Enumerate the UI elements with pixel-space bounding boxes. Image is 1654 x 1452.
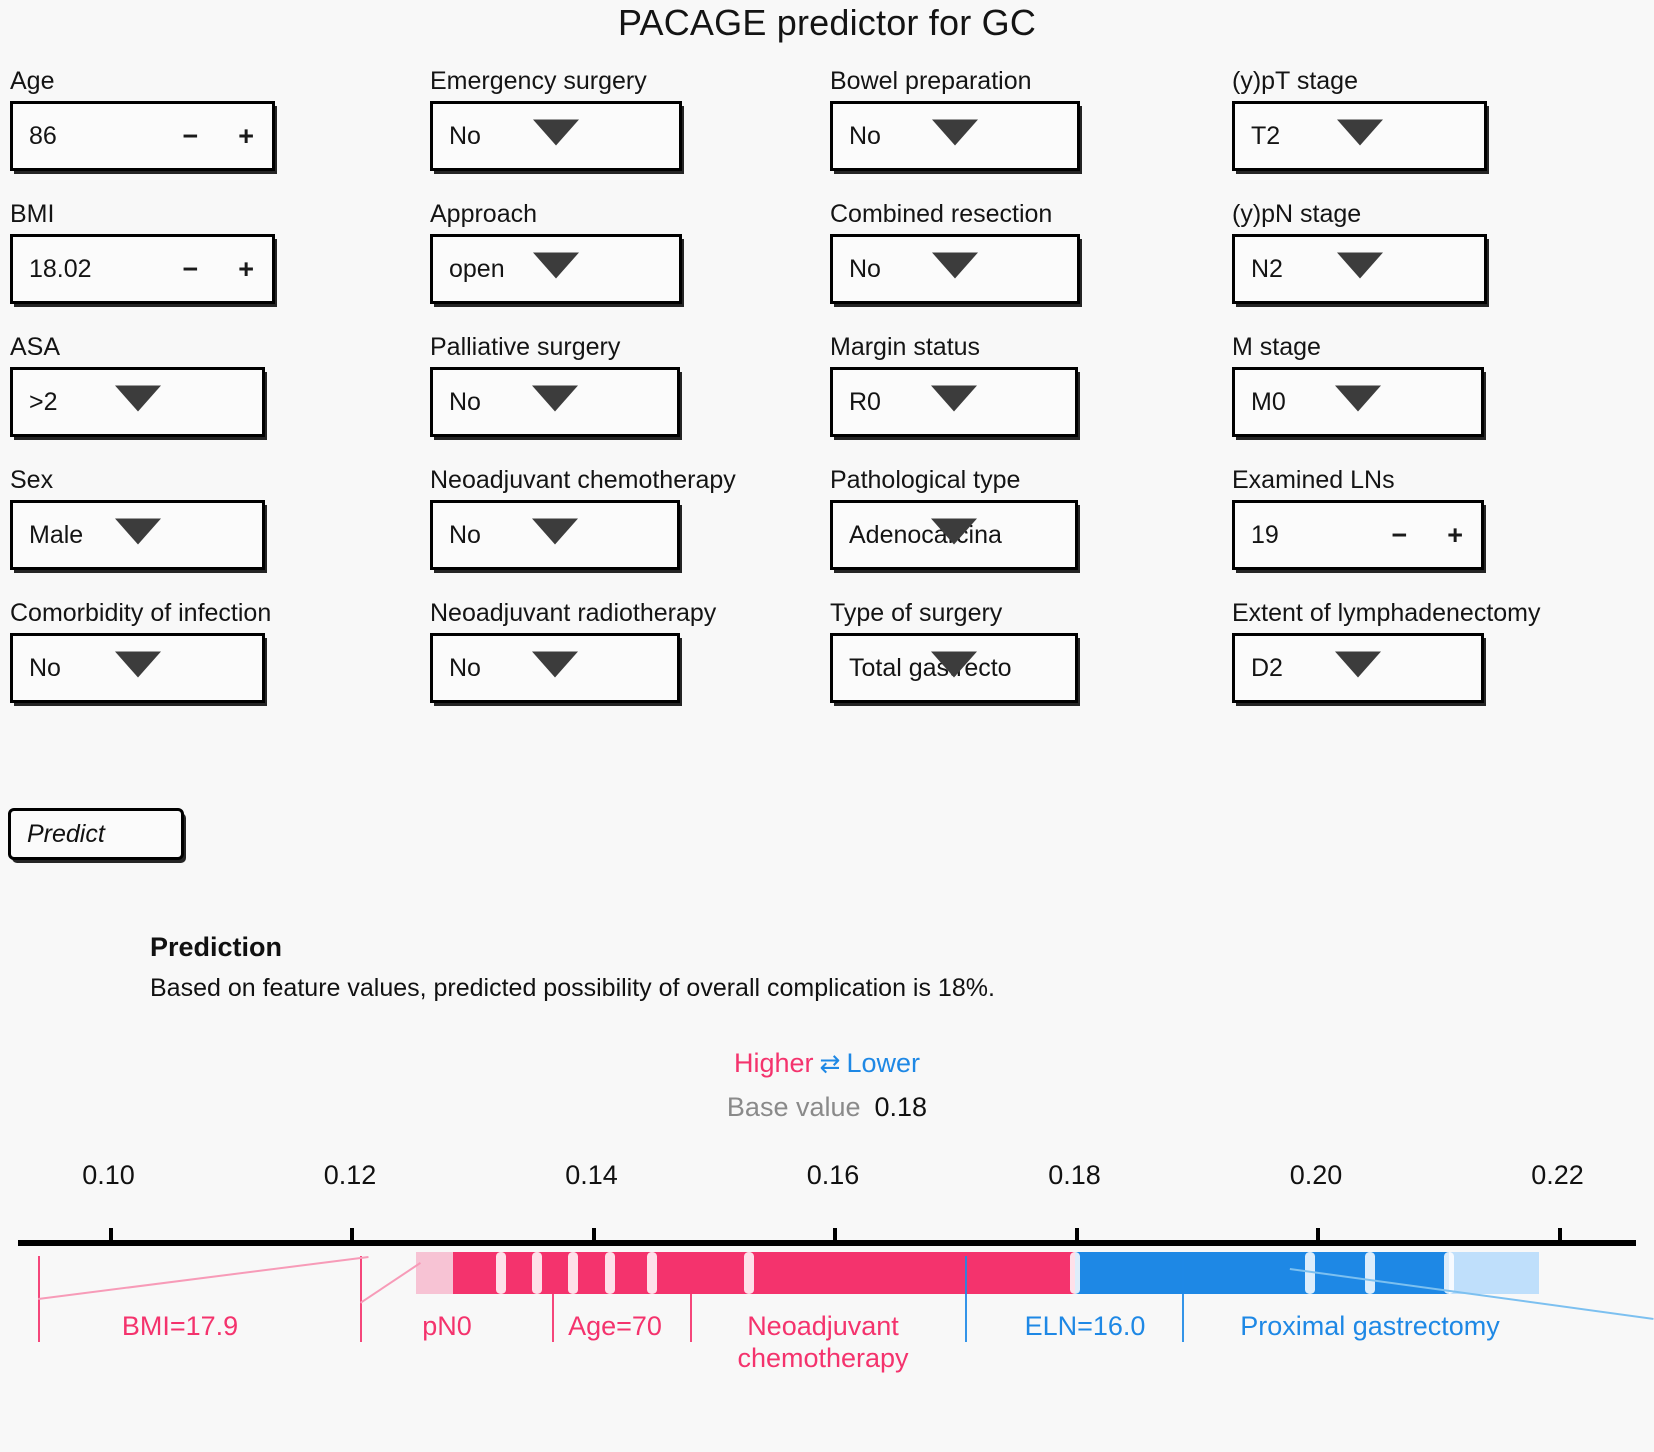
force-feature-label: Proximal gastrectomy <box>1240 1310 1500 1342</box>
pathological-type-select[interactable]: Adenocarcina <box>830 500 1078 570</box>
emergency-surgery-value: No <box>433 122 481 151</box>
form-column-1: BMI 18.02 − + <box>10 199 430 304</box>
axis-tick <box>109 1228 113 1240</box>
field-label: Sex <box>10 465 430 495</box>
asa-value: >2 <box>13 388 58 417</box>
margin-status-value: R0 <box>833 388 881 417</box>
field-label: Emergency surgery <box>430 66 830 96</box>
form-column-4: (y)pT stage T2 <box>1232 66 1650 171</box>
plus-icon[interactable]: + <box>238 121 254 152</box>
form-row: Sex Male Neoadjuvant chemotherapy No Pat… <box>10 465 1650 570</box>
form-column-4: (y)pN stage N2 <box>1232 199 1650 304</box>
force-plot-legend: Higher⇄Lower <box>0 1048 1654 1079</box>
palliative-surgery-select[interactable]: No <box>430 367 680 437</box>
force-segment <box>496 1252 506 1294</box>
shap-force-plot: Higher⇄Lower Base value0.18 0.100.120.14… <box>0 1040 1654 1452</box>
field-label: (y)pN stage <box>1232 199 1650 229</box>
bowel-preparation-select[interactable]: No <box>830 101 1080 171</box>
bowel-preparation-value: No <box>833 122 881 151</box>
field-sex: Sex Male <box>10 465 430 570</box>
field-emergency-surgery: Emergency surgery No <box>430 66 830 171</box>
field-age: Age 86 − + <box>10 66 430 171</box>
comorbidity-of-infection-value: No <box>13 654 61 683</box>
force-feature-label: chemotherapy <box>737 1342 908 1374</box>
minus-icon[interactable]: − <box>1391 520 1407 551</box>
force-segment <box>605 1252 615 1294</box>
force-plot-axis <box>18 1240 1636 1246</box>
swap-icon: ⇄ <box>814 1050 847 1078</box>
field-label: M stage <box>1232 332 1650 362</box>
ypn-stage-value: N2 <box>1235 255 1283 284</box>
form-column-2: Neoadjuvant radiotherapy No <box>430 598 830 703</box>
field-m-stage: M stage M0 <box>1232 332 1650 437</box>
plus-icon[interactable]: + <box>238 254 254 285</box>
field-type-of-surgery: Type of surgery Total gastrectο <box>830 598 1232 703</box>
field-label: Examined LNs <box>1232 465 1650 495</box>
field-palliative-surgery: Palliative surgery No <box>430 332 830 437</box>
ypt-stage-value: T2 <box>1235 122 1280 151</box>
axis-tick <box>833 1228 837 1240</box>
prediction-heading: Prediction <box>150 932 282 963</box>
axis-tick-label: 0.22 <box>1531 1160 1584 1191</box>
page-title: PACAGE predictor for GC <box>0 2 1654 44</box>
force-segment <box>1444 1252 1454 1294</box>
axis-tick <box>592 1228 596 1240</box>
extent-of-lymphadenectomy-value: D2 <box>1235 654 1283 683</box>
plus-icon[interactable]: + <box>1447 520 1463 551</box>
field-label: Approach <box>430 199 830 229</box>
form-column-3: Type of surgery Total gastrectο <box>830 598 1232 703</box>
form-column-2: Emergency surgery No <box>430 66 830 171</box>
type-of-surgery-select[interactable]: Total gastrectο <box>830 633 1078 703</box>
force-segment <box>568 1252 578 1294</box>
force-feature-label: ELN=16.0 <box>1025 1310 1146 1342</box>
field-bowel-preparation: Bowel preparation No <box>830 66 1232 171</box>
predict-button[interactable]: Predict <box>8 808 184 860</box>
field-label: Extent of lymphadenectomy <box>1232 598 1650 628</box>
legend-lower-label: Lower <box>846 1048 920 1078</box>
field-pathological-type: Pathological type Adenocarcina <box>830 465 1232 570</box>
field-margin-status: Margin status R0 <box>830 332 1232 437</box>
force-segment <box>744 1252 754 1294</box>
approach-value: open <box>433 255 505 284</box>
bmi-stepper-ops: − + <box>182 254 254 285</box>
force-feature-label: Age=70 <box>568 1310 662 1342</box>
examined-lns-stepper[interactable]: 19 − + <box>1232 500 1484 570</box>
field-ypn-stage: (y)pN stage N2 <box>1232 199 1650 304</box>
force-leader-line <box>965 1256 967 1342</box>
examined-lns-value: 19 <box>1235 521 1279 550</box>
form-column-3: Combined resection No <box>830 199 1232 304</box>
force-segment <box>532 1252 542 1294</box>
field-label: Bowel preparation <box>830 66 1232 96</box>
minus-icon[interactable]: − <box>182 254 198 285</box>
force-leader-line <box>690 1256 692 1342</box>
force-leader-line <box>360 1256 362 1342</box>
axis-tick-label: 0.12 <box>324 1160 377 1191</box>
ypt-stage-select[interactable]: T2 <box>1232 101 1487 171</box>
extent-of-lymphadenectomy-select[interactable]: D2 <box>1232 633 1484 703</box>
force-segment <box>647 1252 657 1294</box>
force-segment <box>1365 1252 1375 1294</box>
form-column-1: Comorbidity of infection No <box>10 598 430 703</box>
age-stepper[interactable]: 86 − + <box>10 101 275 171</box>
prediction-text: Based on feature values, predicted possi… <box>150 974 995 1003</box>
field-combined-resection: Combined resection No <box>830 199 1232 304</box>
neoadjuvant-radiotherapy-select[interactable]: No <box>430 633 680 703</box>
form-column-2: Approach open <box>430 199 830 304</box>
field-label: Combined resection <box>830 199 1232 229</box>
field-ypt-stage: (y)pT stage T2 <box>1232 66 1650 171</box>
axis-tick-label: 0.14 <box>565 1160 618 1191</box>
bmi-value: 18.02 <box>13 255 92 284</box>
base-value-number: 0.18 <box>875 1092 928 1122</box>
field-neoadjuvant-chemotherapy: Neoadjuvant chemotherapy No <box>430 465 830 570</box>
axis-tick <box>1558 1228 1562 1240</box>
form-column-4: Examined LNs 19 − + <box>1232 465 1650 570</box>
combined-resection-value: No <box>833 255 881 284</box>
form-column-2: Neoadjuvant chemotherapy No <box>430 465 830 570</box>
neoadjuvant-chemotherapy-select[interactable]: No <box>430 500 680 570</box>
type-of-surgery-value: Total gastrectο <box>833 654 1012 683</box>
field-label: Neoadjuvant chemotherapy <box>430 465 830 495</box>
field-label: Pathological type <box>830 465 1232 495</box>
field-approach: Approach open <box>430 199 830 304</box>
axis-tick <box>1075 1228 1079 1240</box>
force-leader-line <box>1182 1256 1184 1342</box>
field-label: Type of surgery <box>830 598 1232 628</box>
margin-status-select[interactable]: R0 <box>830 367 1078 437</box>
axis-tick-label: 0.16 <box>807 1160 860 1191</box>
force-feature-label: Neoadjuvant <box>747 1310 899 1342</box>
form-column-3: Margin status R0 <box>830 332 1232 437</box>
form-column-3: Pathological type Adenocarcina <box>830 465 1232 570</box>
combined-resection-select[interactable]: No <box>830 234 1080 304</box>
force-segment <box>1449 1252 1540 1294</box>
approach-select[interactable]: open <box>430 234 682 304</box>
axis-tick <box>1316 1228 1320 1240</box>
form-row: ASA >2 Palliative surgery No Margin stat… <box>10 332 1650 437</box>
force-feature-label: BMI=17.9 <box>122 1310 238 1342</box>
sex-select[interactable]: Male <box>10 500 265 570</box>
field-neoadjuvant-radiotherapy: Neoadjuvant radiotherapy No <box>430 598 830 703</box>
force-feature-label: pN0 <box>422 1310 472 1342</box>
field-label: Margin status <box>830 332 1232 362</box>
m-stage-value: M0 <box>1235 388 1286 417</box>
emergency-surgery-select[interactable]: No <box>430 101 682 171</box>
field-asa: ASA >2 <box>10 332 430 437</box>
form-column-4: Extent of lymphadenectomy D2 <box>1232 598 1650 703</box>
age-value: 86 <box>13 122 57 151</box>
pathological-type-value: Adenocarcina <box>833 521 1002 550</box>
base-value-row: Base value0.18 <box>0 1092 1654 1123</box>
force-segment <box>628 1252 749 1294</box>
form-column-1: Age 86 − + <box>10 66 430 171</box>
axis-tick <box>350 1228 354 1240</box>
field-label: Comorbidity of infection <box>10 598 430 628</box>
field-examined-lns: Examined LNs 19 − + <box>1232 465 1650 570</box>
input-form: Age 86 − + Emergency surgery No <box>10 66 1650 703</box>
comorbidity-of-infection-select[interactable]: No <box>10 633 265 703</box>
field-label: Palliative surgery <box>430 332 830 362</box>
base-value-label: Base value <box>727 1092 861 1122</box>
form-row: BMI 18.02 − + Approach open <box>10 199 1650 304</box>
form-column-4: M stage M0 <box>1232 332 1650 437</box>
field-label: ASA <box>10 332 430 362</box>
palliative-surgery-value: No <box>433 388 481 417</box>
field-label: Age <box>10 66 430 96</box>
m-stage-select[interactable]: M0 <box>1232 367 1484 437</box>
field-label: (y)pT stage <box>1232 66 1650 96</box>
axis-tick-label: 0.20 <box>1290 1160 1343 1191</box>
force-segment <box>749 1252 1075 1294</box>
form-row: Comorbidity of infection No Neoadjuvant … <box>10 598 1650 703</box>
age-stepper-ops: − + <box>182 121 254 152</box>
field-label: Neoadjuvant radiotherapy <box>430 598 830 628</box>
field-extent-of-lymphadenectomy: Extent of lymphadenectomy D2 <box>1232 598 1650 703</box>
form-column-2: Palliative surgery No <box>430 332 830 437</box>
form-column-1: ASA >2 <box>10 332 430 437</box>
force-segment <box>1075 1252 1310 1294</box>
form-column-3: Bowel preparation No <box>830 66 1232 171</box>
bmi-stepper[interactable]: 18.02 − + <box>10 234 275 304</box>
field-comorbidity-of-infection: Comorbidity of infection No <box>10 598 430 703</box>
asa-select[interactable]: >2 <box>10 367 265 437</box>
examined-lns-stepper-ops: − + <box>1391 520 1463 551</box>
form-column-1: Sex Male <box>10 465 430 570</box>
force-segment <box>1070 1252 1080 1294</box>
force-leader-line <box>552 1256 554 1342</box>
neoadjuvant-radiotherapy-value: No <box>433 654 481 683</box>
sex-value: Male <box>13 521 83 550</box>
field-label: BMI <box>10 199 430 229</box>
legend-higher-label: Higher <box>734 1048 814 1078</box>
axis-tick-label: 0.10 <box>82 1160 135 1191</box>
ypn-stage-select[interactable]: N2 <box>1232 234 1487 304</box>
form-row: Age 86 − + Emergency surgery No <box>10 66 1650 171</box>
axis-tick-label: 0.18 <box>1048 1160 1101 1191</box>
neoadjuvant-chemotherapy-value: No <box>433 521 481 550</box>
field-bmi: BMI 18.02 − + <box>10 199 430 304</box>
minus-icon[interactable]: − <box>182 121 198 152</box>
